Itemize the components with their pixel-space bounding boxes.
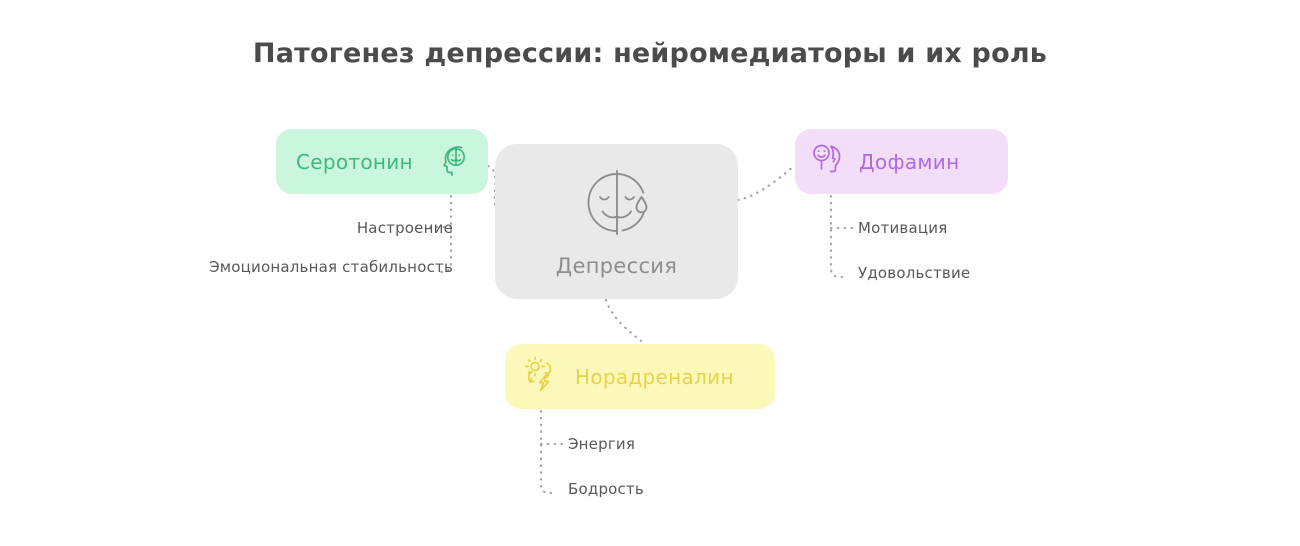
half-happy-half-crying-face-icon	[580, 166, 654, 244]
link-dopamine-trunk	[831, 196, 843, 277]
sublabel-emotional-stability: Эмоциональная стабильность	[178, 258, 453, 276]
sublabel-energy: Энергия	[568, 435, 635, 453]
node-noradrenaline-label: Норадреналин	[575, 365, 734, 389]
smiley-head-profile-icon	[809, 141, 847, 183]
head-with-face-circle-icon	[436, 142, 472, 182]
node-dopamine[interactable]: Дофамин	[795, 129, 1008, 194]
node-serotonin-label: Серотонин	[296, 150, 413, 174]
sublabel-vigor: Бодрость	[568, 480, 644, 498]
node-noradrenaline[interactable]: Норадреналин	[505, 344, 775, 409]
link-center-noradrenaline	[606, 300, 645, 344]
link-noradrenaline-trunk	[541, 411, 553, 493]
link-center-dopamine	[738, 166, 794, 200]
sublabel-pleasure: Удовольствие	[858, 264, 970, 282]
node-serotonin[interactable]: Серотонин	[276, 129, 488, 194]
page-title: Патогенез депрессии: нейромедиаторы и их…	[0, 38, 1300, 69]
sublabel-mood: Настроение	[313, 219, 453, 237]
sublabel-motivation: Мотивация	[858, 219, 947, 237]
center-node-label: Депрессия	[556, 254, 677, 278]
node-dopamine-label: Дофамин	[859, 150, 959, 174]
sun-lightning-bolt-icon	[521, 354, 563, 400]
node-depression-center[interactable]: Депрессия	[495, 144, 738, 299]
mindmap-canvas: Патогенез депрессии: нейромедиаторы и их…	[0, 0, 1300, 546]
